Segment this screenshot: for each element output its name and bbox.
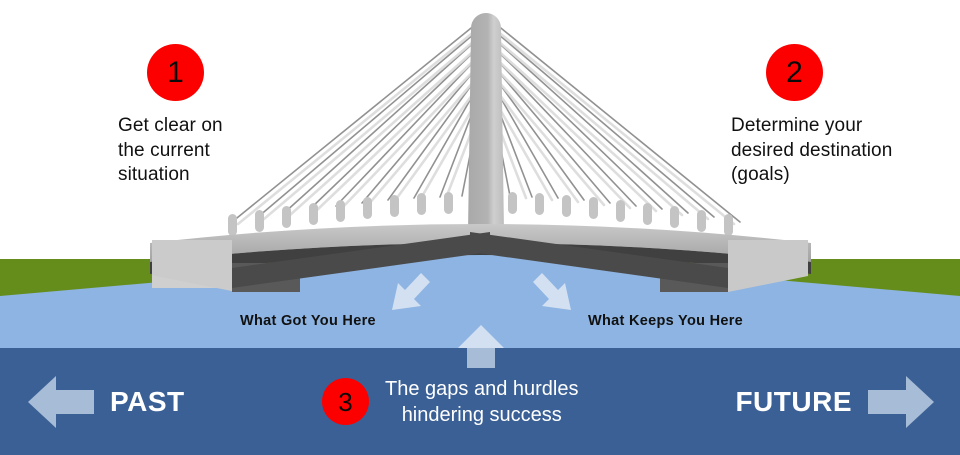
step-1-text: Get clear on the current situation xyxy=(118,114,223,188)
step-callout-2: 2 Determine your desired destination (go… xyxy=(731,44,892,188)
infographic-canvas: 1 Get clear on the current situation 2 D… xyxy=(0,0,960,455)
label-what-got-you-here: What Got You Here xyxy=(240,313,376,329)
step-1-number-circle: 1 xyxy=(147,44,204,101)
step-3-number: 3 xyxy=(338,389,352,415)
step-callout-1: 1 Get clear on the current situation xyxy=(118,44,223,188)
step-1-number: 1 xyxy=(167,58,184,88)
step-callout-3: 3 The gaps and hurdles hindering success xyxy=(322,376,578,428)
step-2-text: Determine your desired destination (goal… xyxy=(731,114,892,188)
timeline-bar: PAST 3 The gaps and hurdles hindering su… xyxy=(0,348,960,455)
arrow-right-icon xyxy=(868,374,934,430)
step-3-text: The gaps and hurdles hindering success xyxy=(385,376,578,428)
past-group: PAST xyxy=(28,374,185,430)
step-2-number-circle: 2 xyxy=(766,44,823,101)
future-group: FUTURE xyxy=(735,374,934,430)
arrow-left-icon xyxy=(28,374,94,430)
step-3-number-circle: 3 xyxy=(322,378,369,425)
bridge-pylon xyxy=(468,13,504,232)
future-label: FUTURE xyxy=(735,386,852,418)
past-label: PAST xyxy=(110,386,185,418)
step-2-number: 2 xyxy=(786,58,803,88)
label-what-keeps-you-here: What Keeps You Here xyxy=(588,313,743,329)
